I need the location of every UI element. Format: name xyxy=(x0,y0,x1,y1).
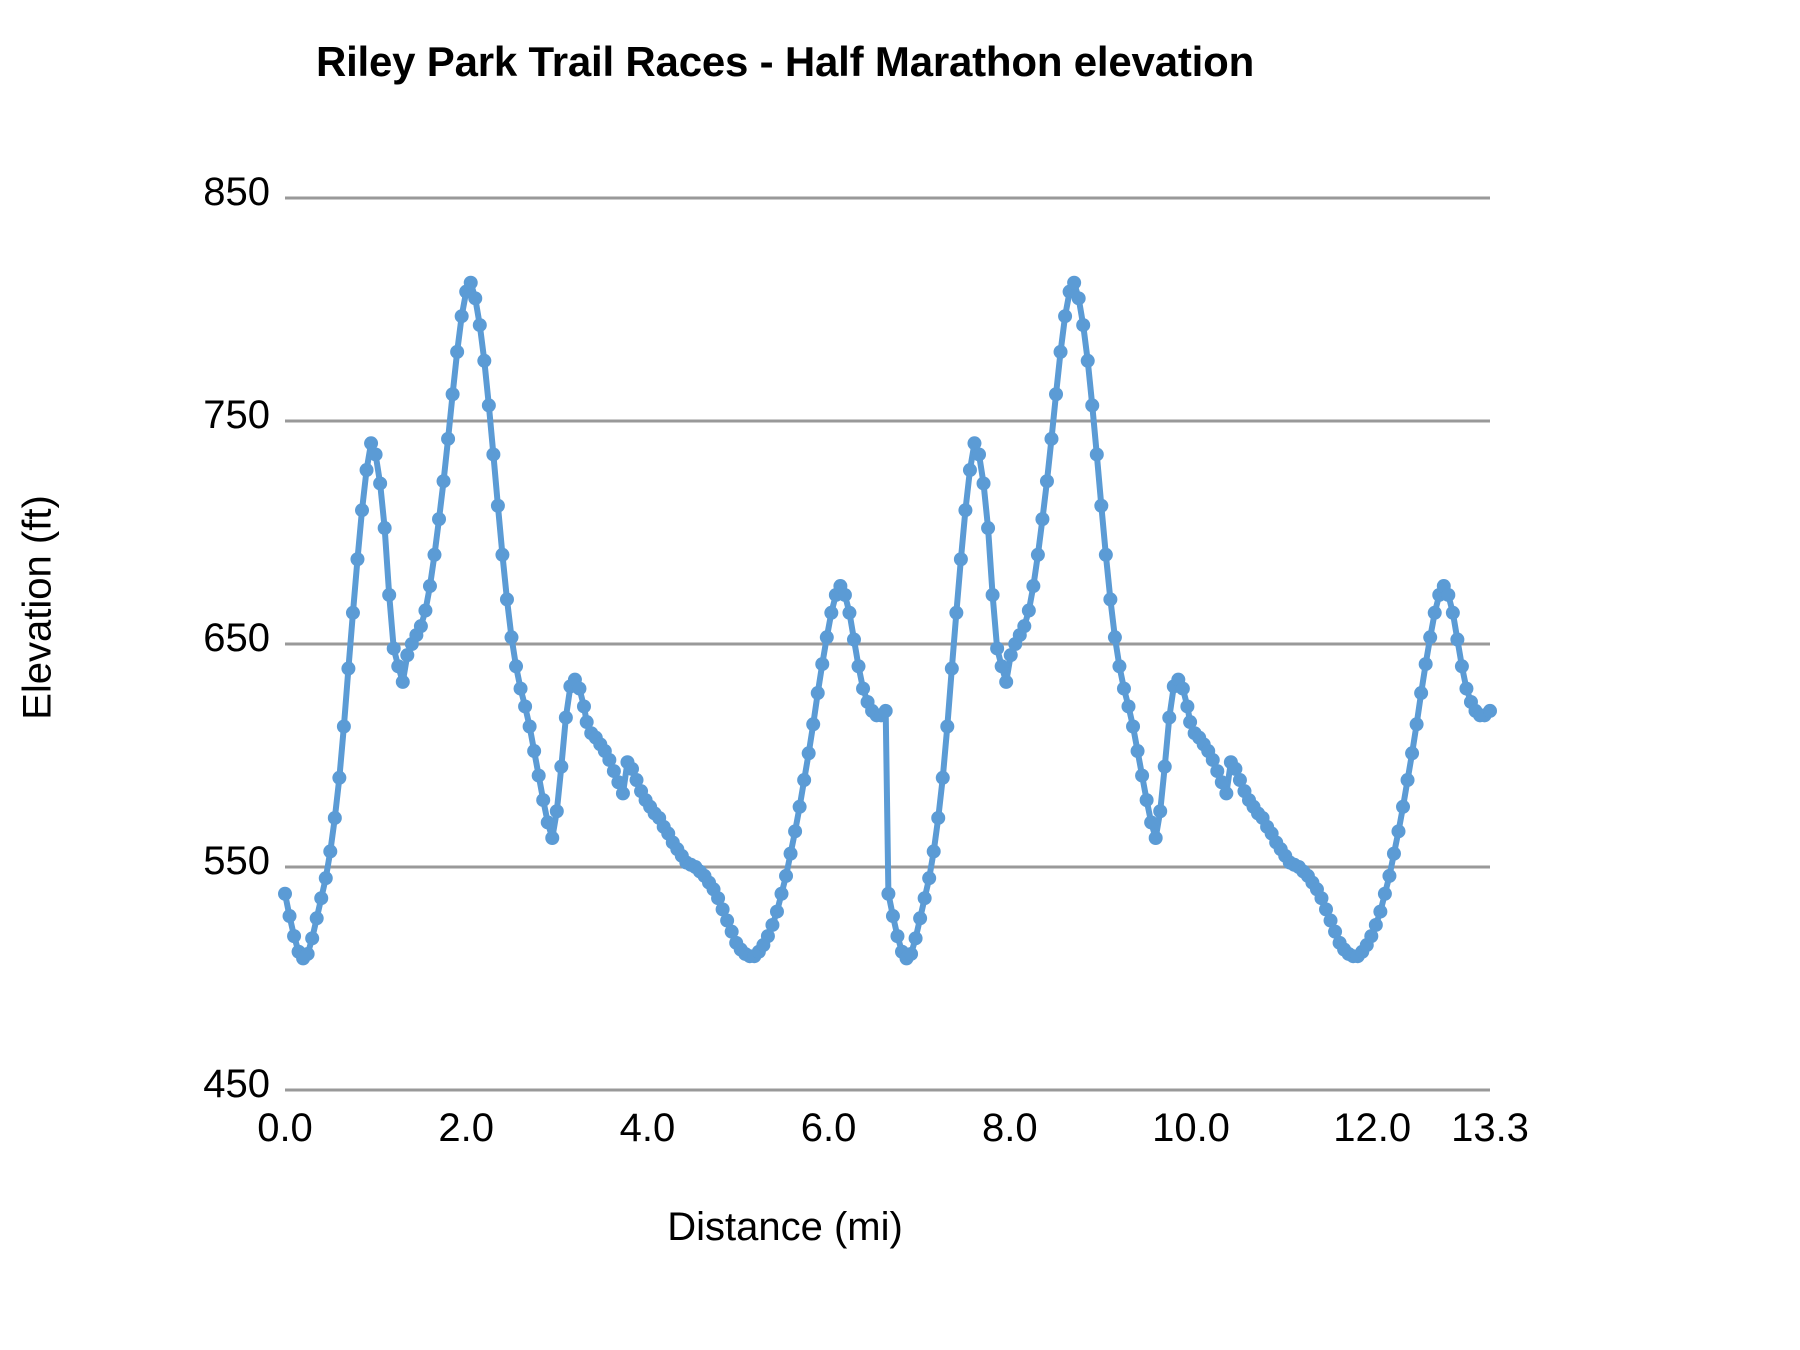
data-point xyxy=(879,704,893,718)
data-point xyxy=(824,606,838,620)
data-point xyxy=(1112,659,1126,673)
data-point xyxy=(495,548,509,562)
data-point xyxy=(990,641,1004,655)
data-point xyxy=(1126,720,1140,734)
data-point xyxy=(797,773,811,787)
data-point xyxy=(355,503,369,517)
data-point xyxy=(890,929,904,943)
data-point xyxy=(301,947,315,961)
data-point xyxy=(541,815,555,829)
x-axis-title: Distance (mi) xyxy=(0,1205,1570,1250)
data-point xyxy=(527,744,541,758)
data-point xyxy=(765,918,779,932)
data-point xyxy=(936,771,950,785)
data-point xyxy=(1022,604,1036,618)
data-point xyxy=(1108,630,1122,644)
data-point xyxy=(1455,659,1469,673)
data-point xyxy=(319,871,333,885)
data-point xyxy=(550,804,564,818)
data-point xyxy=(423,579,437,593)
x-axis-tick-label: 12.0 xyxy=(1333,1108,1411,1148)
data-point xyxy=(904,947,918,961)
data-point xyxy=(1162,711,1176,725)
data-point xyxy=(418,604,432,618)
data-point xyxy=(1035,512,1049,526)
data-point xyxy=(572,682,586,696)
data-point xyxy=(1017,619,1031,633)
data-point xyxy=(346,606,360,620)
data-point xyxy=(387,641,401,655)
data-point xyxy=(328,811,342,825)
data-point xyxy=(314,891,328,905)
data-point xyxy=(958,503,972,517)
y-axis-title: Elevation (ft) xyxy=(16,308,61,908)
x-axis-tick-label: 2.0 xyxy=(438,1108,494,1148)
data-point xyxy=(1382,869,1396,883)
data-point xyxy=(881,887,895,901)
data-point xyxy=(1044,432,1058,446)
data-point xyxy=(369,447,383,461)
data-point xyxy=(1099,548,1113,562)
data-point xyxy=(350,552,364,566)
data-point xyxy=(940,720,954,734)
y-axis-tick-label: 750 xyxy=(203,395,270,435)
x-axis-tick-label: 13.3 xyxy=(1451,1108,1529,1148)
data-point xyxy=(1054,345,1068,359)
data-point xyxy=(775,887,789,901)
data-point xyxy=(287,929,301,943)
elevation-line-chart xyxy=(285,198,1490,1090)
y-axis-tick-label: 550 xyxy=(203,841,270,881)
data-point xyxy=(1031,548,1045,562)
data-point xyxy=(1072,291,1086,305)
y-axis-tick-label: 850 xyxy=(203,172,270,212)
data-point xyxy=(1153,804,1167,818)
x-axis-tick-label: 0.0 xyxy=(257,1108,313,1148)
data-point xyxy=(523,720,537,734)
data-point xyxy=(278,887,292,901)
data-point xyxy=(1446,606,1460,620)
data-point xyxy=(949,606,963,620)
data-point xyxy=(545,831,559,845)
data-point xyxy=(616,786,630,800)
data-point xyxy=(577,699,591,713)
data-point xyxy=(532,769,546,783)
data-point xyxy=(986,588,1000,602)
data-point xyxy=(1076,318,1090,332)
data-point xyxy=(1081,354,1095,368)
data-point xyxy=(972,447,986,461)
data-point xyxy=(995,659,1009,673)
data-point xyxy=(1450,633,1464,647)
x-axis-tick-label: 8.0 xyxy=(982,1108,1038,1148)
data-point xyxy=(852,659,866,673)
data-point xyxy=(1401,773,1415,787)
data-point xyxy=(1067,276,1081,290)
data-point xyxy=(477,354,491,368)
data-point xyxy=(820,630,834,644)
data-point xyxy=(1373,905,1387,919)
data-point xyxy=(391,659,405,673)
data-point xyxy=(1158,760,1172,774)
data-point xyxy=(1405,746,1419,760)
data-point xyxy=(464,276,478,290)
data-point xyxy=(815,657,829,671)
data-point xyxy=(1391,824,1405,838)
x-axis-tick-label: 6.0 xyxy=(801,1108,857,1148)
x-axis-tick-label: 4.0 xyxy=(620,1108,676,1148)
data-point xyxy=(332,771,346,785)
data-point xyxy=(886,909,900,923)
data-point xyxy=(1414,686,1428,700)
data-point xyxy=(981,521,995,535)
data-point xyxy=(1094,499,1108,513)
data-point xyxy=(414,619,428,633)
data-point xyxy=(1483,704,1497,718)
data-point xyxy=(954,552,968,566)
data-point xyxy=(793,800,807,814)
data-point xyxy=(310,911,324,925)
data-point xyxy=(918,891,932,905)
data-point xyxy=(509,659,523,673)
data-point xyxy=(1219,786,1233,800)
data-point xyxy=(1459,682,1473,696)
data-point xyxy=(396,675,410,689)
data-point xyxy=(455,309,469,323)
data-point xyxy=(446,387,460,401)
data-point xyxy=(500,592,514,606)
data-point xyxy=(473,318,487,332)
data-point xyxy=(927,844,941,858)
data-point xyxy=(909,931,923,945)
data-point xyxy=(378,521,392,535)
data-point xyxy=(847,633,861,647)
data-point xyxy=(1135,769,1149,783)
data-point xyxy=(341,662,355,676)
data-point xyxy=(1387,847,1401,861)
data-point xyxy=(437,474,451,488)
data-point xyxy=(323,844,337,858)
y-axis-tick-label: 450 xyxy=(203,1064,270,1104)
data-point xyxy=(802,746,816,760)
data-point xyxy=(788,824,802,838)
data-point xyxy=(283,909,297,923)
data-point xyxy=(337,720,351,734)
data-point xyxy=(360,463,374,477)
data-point xyxy=(536,793,550,807)
data-point xyxy=(482,398,496,412)
data-point xyxy=(1180,699,1194,713)
data-point xyxy=(382,588,396,602)
data-point xyxy=(922,871,936,885)
data-point xyxy=(977,476,991,490)
data-point xyxy=(811,686,825,700)
data-point xyxy=(1131,744,1145,758)
data-point xyxy=(806,717,820,731)
data-point xyxy=(1419,657,1433,671)
data-point xyxy=(441,432,455,446)
data-point xyxy=(1049,387,1063,401)
data-point xyxy=(1396,800,1410,814)
data-point xyxy=(913,911,927,925)
data-point xyxy=(1090,447,1104,461)
data-point xyxy=(1122,699,1136,713)
data-point xyxy=(505,630,519,644)
chart-title: Riley Park Trail Races - Half Marathon e… xyxy=(0,38,1570,86)
data-point xyxy=(945,662,959,676)
data-point xyxy=(1176,682,1190,696)
data-point xyxy=(1428,606,1442,620)
data-point xyxy=(1085,398,1099,412)
data-point xyxy=(931,811,945,825)
data-point xyxy=(468,291,482,305)
data-point xyxy=(373,476,387,490)
data-point xyxy=(963,463,977,477)
data-point xyxy=(1144,815,1158,829)
data-point xyxy=(427,548,441,562)
data-point xyxy=(1423,630,1437,644)
data-point xyxy=(486,447,500,461)
data-point xyxy=(1117,682,1131,696)
data-point xyxy=(1140,793,1154,807)
chart-container: Riley Park Trail Races - Half Marathon e… xyxy=(0,0,1800,1350)
data-point xyxy=(1040,474,1054,488)
data-point xyxy=(770,905,784,919)
data-point xyxy=(1378,887,1392,901)
x-axis-tick-label: 10.0 xyxy=(1152,1108,1230,1148)
data-point xyxy=(1149,831,1163,845)
data-point xyxy=(450,345,464,359)
elevation-series-line xyxy=(285,283,1490,959)
data-point xyxy=(305,931,319,945)
data-point xyxy=(1026,579,1040,593)
data-point xyxy=(838,588,852,602)
data-point xyxy=(1103,592,1117,606)
data-point xyxy=(554,760,568,774)
data-point xyxy=(1441,588,1455,602)
data-point xyxy=(784,847,798,861)
data-point xyxy=(842,606,856,620)
data-point xyxy=(491,499,505,513)
data-point xyxy=(856,682,870,696)
data-point xyxy=(779,869,793,883)
data-point xyxy=(432,512,446,526)
data-point xyxy=(559,711,573,725)
data-point xyxy=(514,682,528,696)
gridlines xyxy=(285,198,1490,1090)
data-point xyxy=(1058,309,1072,323)
data-point xyxy=(1369,918,1383,932)
data-point xyxy=(518,699,532,713)
data-point xyxy=(999,675,1013,689)
y-axis-tick-label: 650 xyxy=(203,618,270,658)
data-point xyxy=(1410,717,1424,731)
plot-area xyxy=(285,198,1490,1090)
